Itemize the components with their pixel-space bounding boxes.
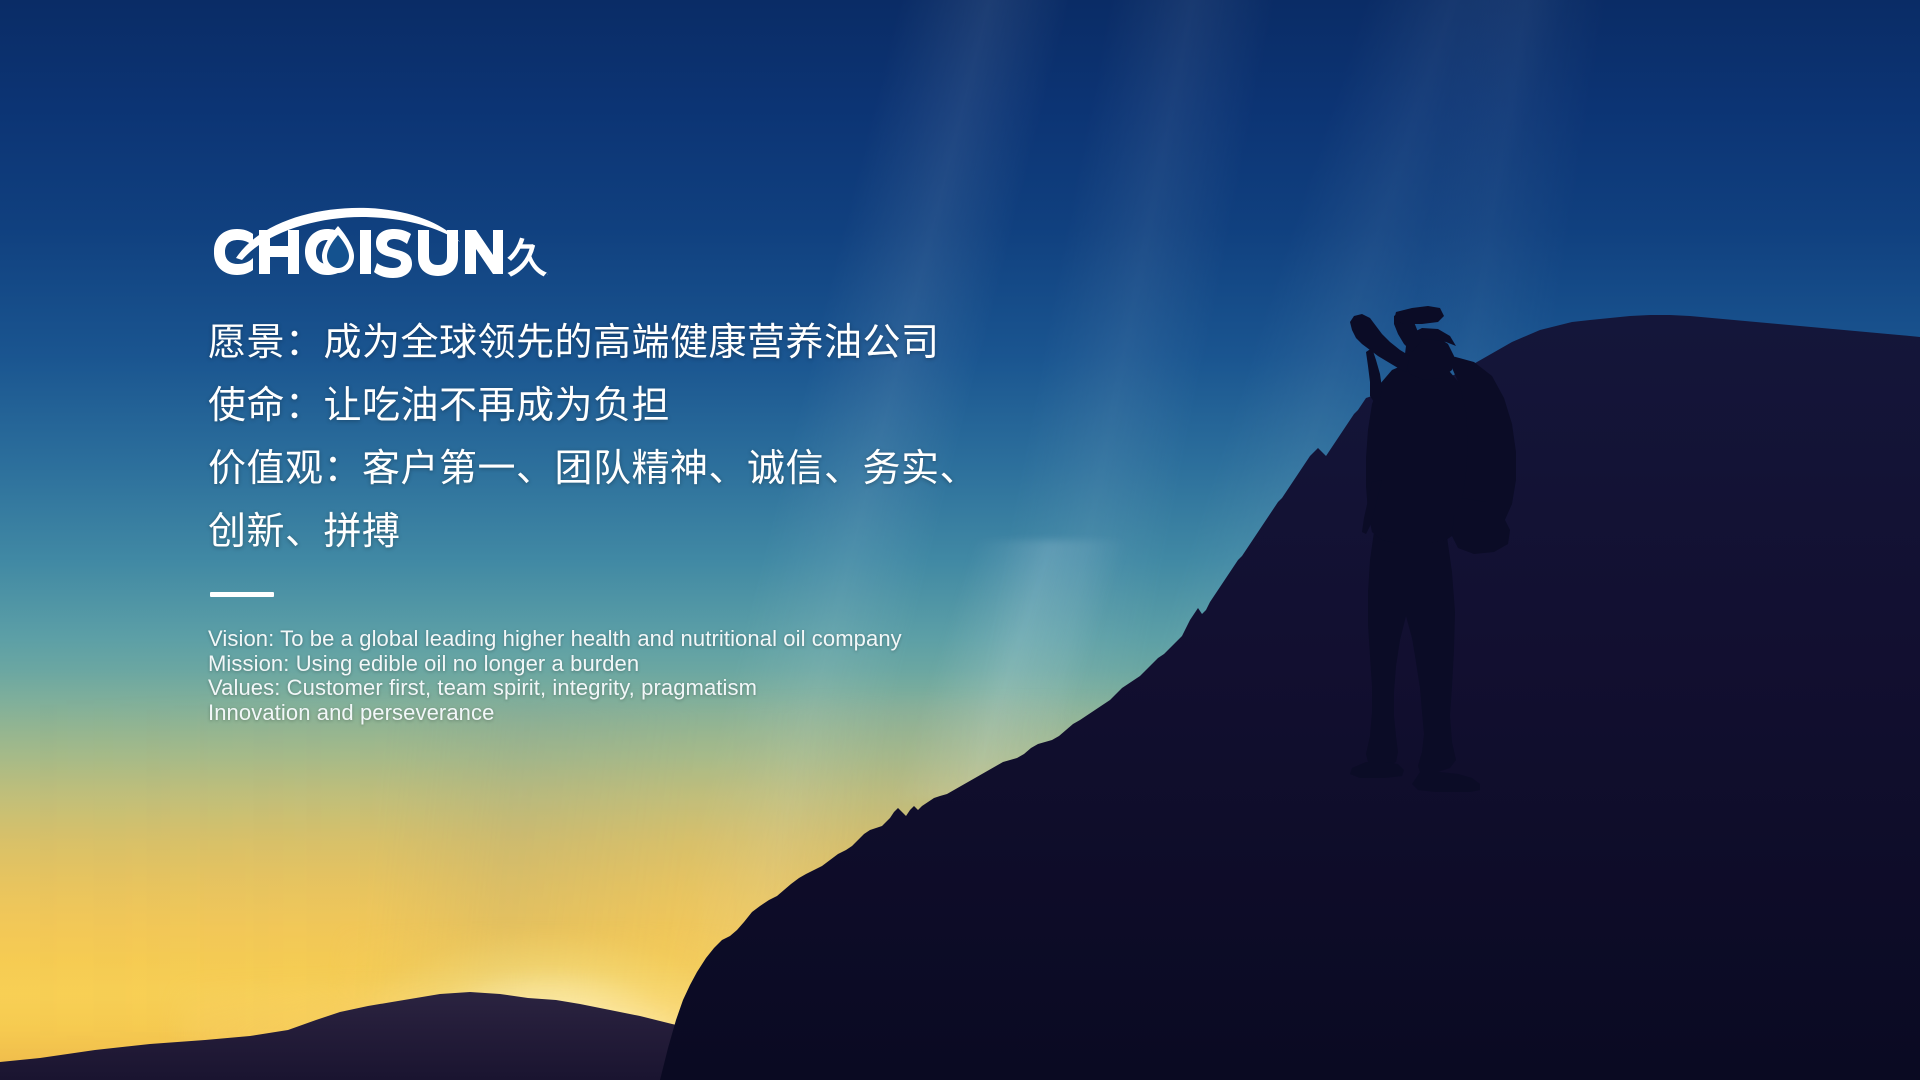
english-statements: Vision: To be a global leading higher he… [208, 627, 1128, 725]
values-line-zh: 价值观：客户第一、团队精神、诚信、务实、 [208, 438, 1128, 501]
content-block: 久晟 愿景：成为全球领先的高端健康营养油公司 使命：让吃油不再成为负担 价值观：… [208, 206, 1128, 725]
values-line-en: Values: Customer first, team spirit, int… [208, 676, 1128, 701]
values-line-zh-cont: 创新、拼搏 [208, 501, 1128, 564]
vision-line-en: Vision: To be a global leading higher he… [208, 627, 1128, 652]
vision-line-zh: 愿景：成为全球领先的高端健康营养油公司 [208, 312, 1128, 375]
mission-line-zh: 使命：让吃油不再成为负担 [208, 375, 1128, 438]
divider-rule [210, 592, 274, 597]
slide-canvas: 久晟 愿景：成为全球领先的高端健康营养油公司 使命：让吃油不再成为负担 价值观：… [0, 0, 1920, 1080]
mission-line-en: Mission: Using edible oil no longer a bu… [208, 652, 1128, 677]
values-line-en-cont: Innovation and perseverance [208, 701, 1128, 726]
chinese-statements: 愿景：成为全球领先的高端健康营养油公司 使命：让吃油不再成为负担 价值观：客户第… [208, 312, 1128, 564]
company-logo[interactable]: 久晟 [208, 206, 548, 298]
logo-chinese-glyphs: 久晟 [507, 236, 548, 282]
